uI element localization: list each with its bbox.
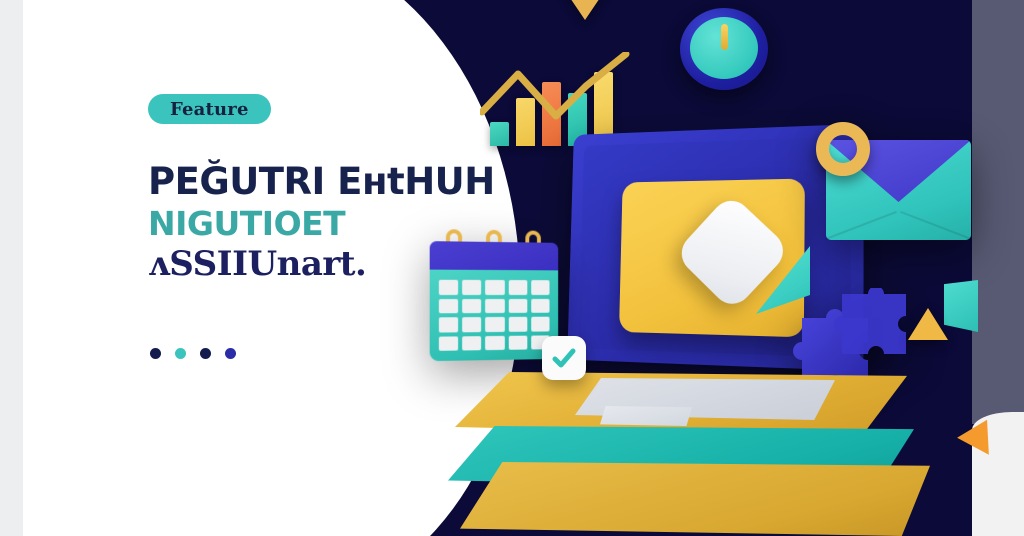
layer-sheet-gold [460, 462, 930, 536]
calendar-cell [531, 280, 550, 294]
checkmark-badge-icon [542, 336, 586, 380]
triangle-top-icon [562, 0, 608, 20]
dot-indicator-2[interactable] [175, 348, 186, 359]
calendar-cell [508, 280, 527, 294]
dot-indicator-1[interactable] [150, 348, 161, 359]
calendar-cell [531, 317, 550, 331]
teal-shard-shape [944, 280, 978, 332]
check-icon [550, 344, 578, 372]
chart-trendline-icon [480, 52, 630, 138]
feature-badge-label: Feature [170, 99, 249, 120]
feature-badge: Feature [148, 94, 271, 124]
page-title: PEĞUTRI EʜtHUH NIGUTIOET ʌSSIIUnart. [148, 164, 478, 281]
envelope-icon [826, 140, 971, 240]
calendar-cell [508, 298, 527, 312]
headline-line-3: ʌSSIIUnart. [148, 248, 478, 281]
calendar-cell [531, 298, 550, 312]
laptop-trackpad [600, 406, 692, 426]
calendar-cell [508, 317, 527, 332]
clock-hand [721, 24, 728, 50]
dot-indicator-3[interactable] [200, 348, 211, 359]
headline-line-2: NIGUTIOET [148, 208, 478, 240]
triangle-right-icon [908, 308, 948, 340]
ring-torus-icon [816, 122, 870, 176]
headline-line-1: PEĞUTRI EʜtHUH [148, 164, 478, 200]
triangle-right-lower-icon [957, 411, 1003, 454]
calendar-cell [508, 335, 527, 350]
poster-canvas: Feature PEĞUTRI EʜtHUH NIGUTIOET ʌSSIIUn… [0, 0, 1024, 536]
background-left-gray-strip [0, 0, 23, 536]
dot-indicators[interactable] [150, 348, 236, 359]
dot-indicator-4[interactable] [225, 348, 236, 359]
text-column: Feature PEĞUTRI EʜtHUH NIGUTIOET ʌSSIIUn… [0, 0, 500, 536]
clock-icon [680, 8, 768, 90]
